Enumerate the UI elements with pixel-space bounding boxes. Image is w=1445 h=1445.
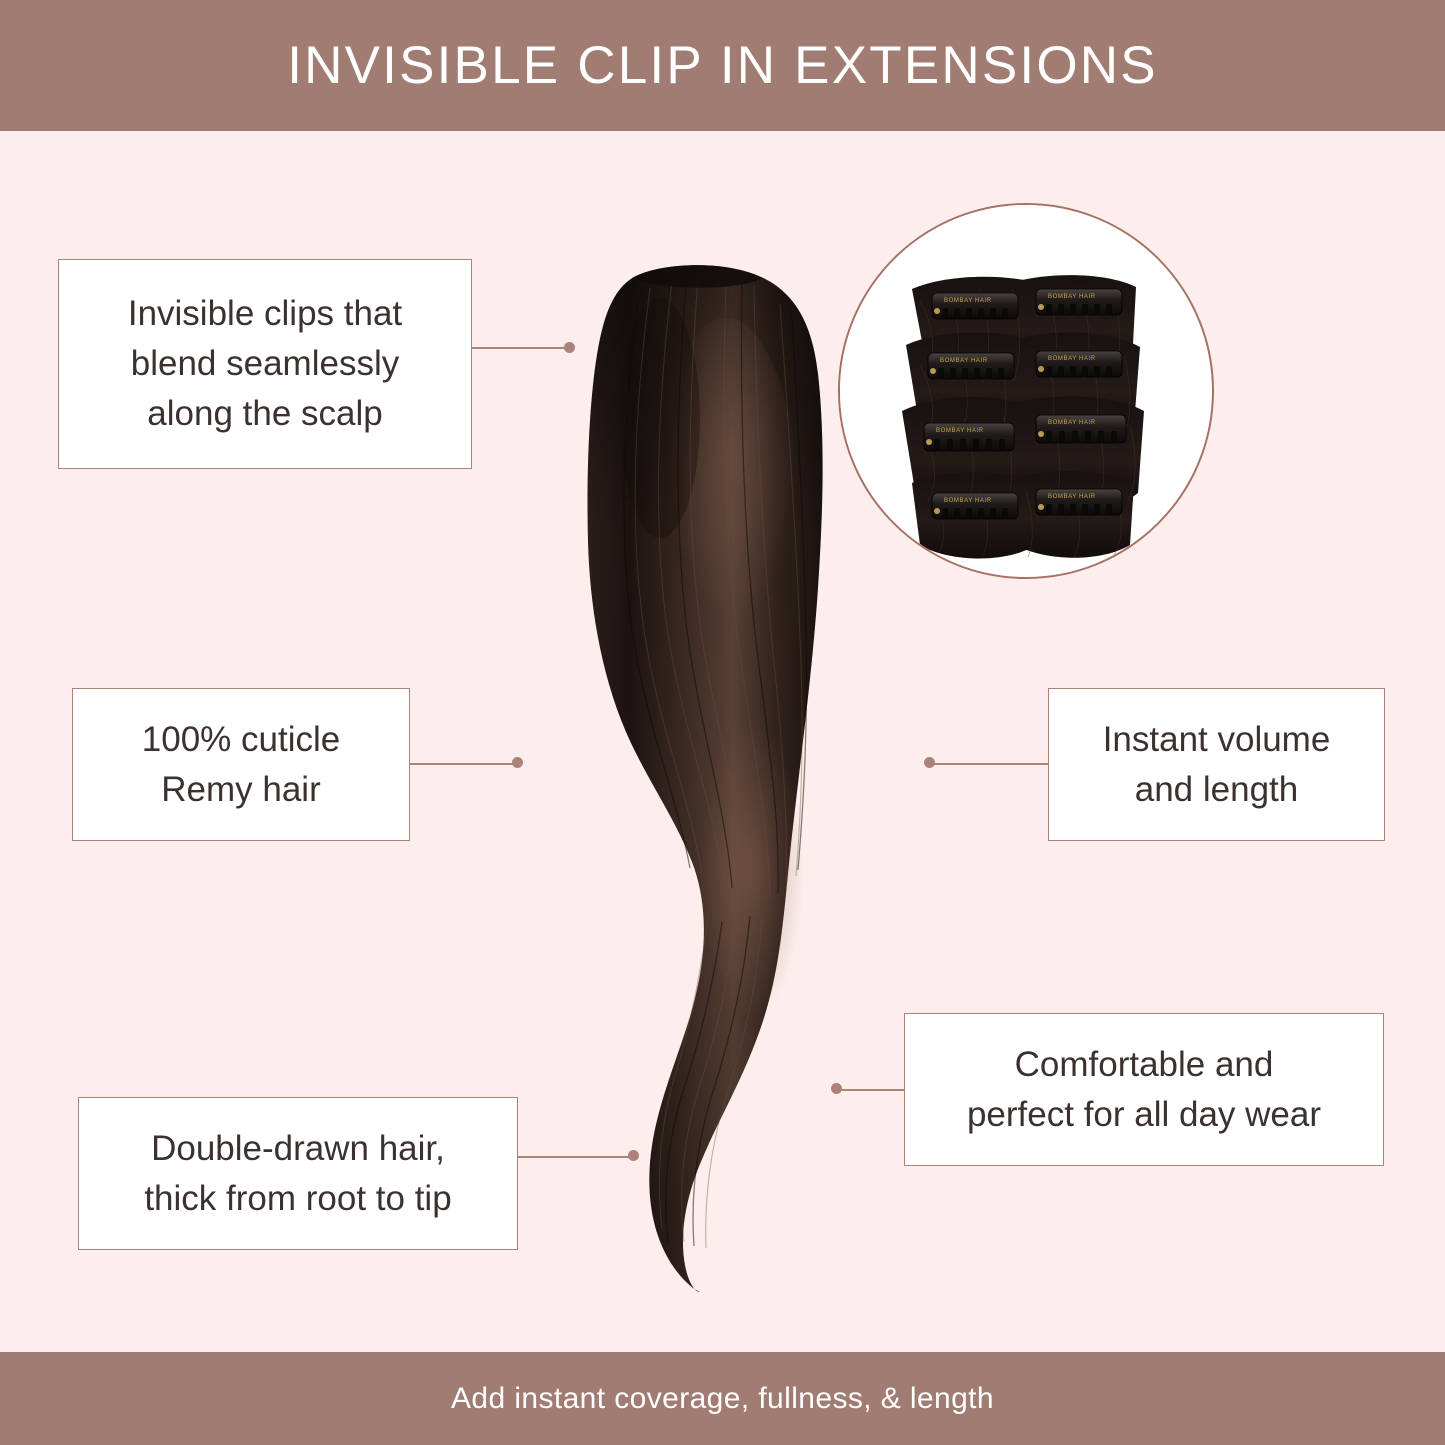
svg-text:BOMBAY HAIR: BOMBAY HAIR xyxy=(1048,294,1096,300)
svg-text:BOMBAY HAIR: BOMBAY HAIR xyxy=(1048,356,1096,362)
clip-closeup-inset: BOMBAY HAIR BOMBAY HAIR xyxy=(838,203,1214,579)
connector-line-4 xyxy=(928,763,1049,765)
footer-tagline: Add instant coverage, fullness, & length xyxy=(451,1382,994,1416)
footer-bar: Add instant coverage, fullness, & length xyxy=(0,1352,1445,1445)
header-bar: INVISIBLE CLIP IN EXTENSIONS xyxy=(0,0,1445,131)
svg-text:BOMBAY HAIR: BOMBAY HAIR xyxy=(944,298,992,304)
page-title: INVISIBLE CLIP IN EXTENSIONS xyxy=(287,39,1158,92)
connector-line-2 xyxy=(410,763,518,765)
callout-instant-volume: Instant volume and length xyxy=(1048,688,1385,841)
callout-comfortable: Comfortable and perfect for all day wear xyxy=(904,1013,1384,1166)
svg-text:BOMBAY HAIR: BOMBAY HAIR xyxy=(944,498,992,504)
callout-invisible-clips: Invisible clips that blend seamlessly al… xyxy=(58,259,472,469)
svg-text:BOMBAY HAIR: BOMBAY HAIR xyxy=(940,358,988,364)
callout-remy-hair: 100% cuticle Remy hair xyxy=(72,688,410,841)
callout-text: Invisible clips that blend seamlessly al… xyxy=(128,289,402,438)
infographic-page: INVISIBLE CLIP IN EXTENSIONS xyxy=(0,0,1445,1445)
svg-text:BOMBAY HAIR: BOMBAY HAIR xyxy=(1048,420,1096,426)
connector-dot-4 xyxy=(924,757,935,768)
callout-text: Double-drawn hair, thick from root to ti… xyxy=(144,1124,451,1223)
svg-text:BOMBAY HAIR: BOMBAY HAIR xyxy=(936,428,984,434)
callout-text: 100% cuticle Remy hair xyxy=(142,715,340,814)
callout-text: Comfortable and perfect for all day wear xyxy=(967,1040,1321,1139)
svg-text:BOMBAY HAIR: BOMBAY HAIR xyxy=(1048,494,1096,500)
connector-dot-2 xyxy=(512,757,523,768)
callout-text: Instant volume and length xyxy=(1103,715,1331,814)
callout-double-drawn: Double-drawn hair, thick from root to ti… xyxy=(78,1097,518,1250)
